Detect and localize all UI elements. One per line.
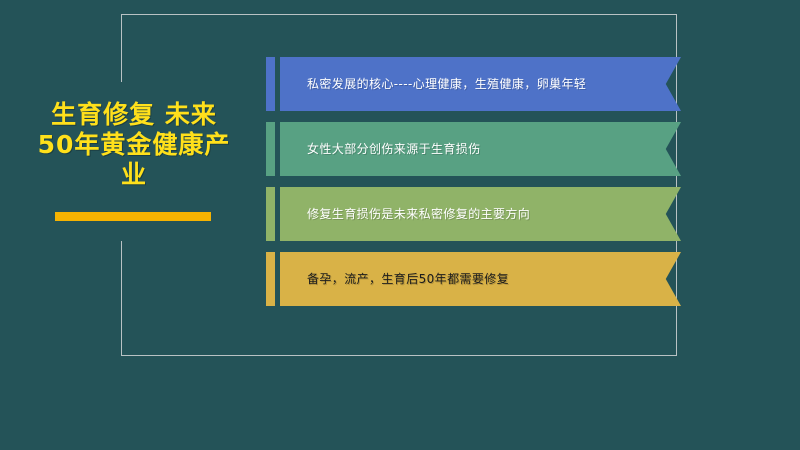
banner-ribbon[interactable]: 备孕，流产，生育后50年都需要修复 xyxy=(280,252,681,306)
frame-line-bottom xyxy=(121,355,677,356)
frame-line-left-upper xyxy=(121,14,122,82)
banner-left-tab xyxy=(266,187,275,241)
banner-row[interactable]: 备孕，流产，生育后50年都需要修复 xyxy=(266,252,681,306)
title-underline-bar xyxy=(55,212,211,221)
banner-tab-gap xyxy=(275,57,280,111)
banner-list: 私密发展的核心----心理健康，生殖健康，卵巢年轻 女性大部分创伤来源于生育损伤… xyxy=(266,57,681,317)
frame-line-top xyxy=(121,14,677,15)
banner-left-tab xyxy=(266,252,275,306)
banner-left-tab xyxy=(266,57,275,111)
banner-tab-gap xyxy=(275,187,280,241)
banner-ribbon[interactable]: 修复生育损伤是未来私密修复的主要方向 xyxy=(280,187,681,241)
banner-ribbon[interactable]: 私密发展的核心----心理健康，生殖健康，卵巢年轻 xyxy=(280,57,681,111)
banner-row[interactable]: 女性大部分创伤来源于生育损伤 xyxy=(266,122,681,176)
banner-ribbon[interactable]: 女性大部分创伤来源于生育损伤 xyxy=(280,122,681,176)
frame-line-left-lower xyxy=(121,241,122,356)
title-block: 生育修复 未来50年黄金健康产业 xyxy=(34,100,234,190)
banner-label: 修复生育损伤是未来私密修复的主要方向 xyxy=(280,206,564,223)
banner-label: 备孕，流产，生育后50年都需要修复 xyxy=(280,271,543,288)
banner-label: 私密发展的核心----心理健康，生殖健康，卵巢年轻 xyxy=(280,76,620,93)
banner-left-tab xyxy=(266,122,275,176)
banner-row[interactable]: 私密发展的核心----心理健康，生殖健康，卵巢年轻 xyxy=(266,57,681,111)
slide-canvas: 生育修复 未来50年黄金健康产业 私密发展的核心----心理健康，生殖健康，卵巢… xyxy=(0,0,800,450)
banner-label: 女性大部分创伤来源于生育损伤 xyxy=(280,141,515,158)
banner-row[interactable]: 修复生育损伤是未来私密修复的主要方向 xyxy=(266,187,681,241)
banner-tab-gap xyxy=(275,252,280,306)
slide-title: 生育修复 未来50年黄金健康产业 xyxy=(34,100,234,190)
banner-tab-gap xyxy=(275,122,280,176)
